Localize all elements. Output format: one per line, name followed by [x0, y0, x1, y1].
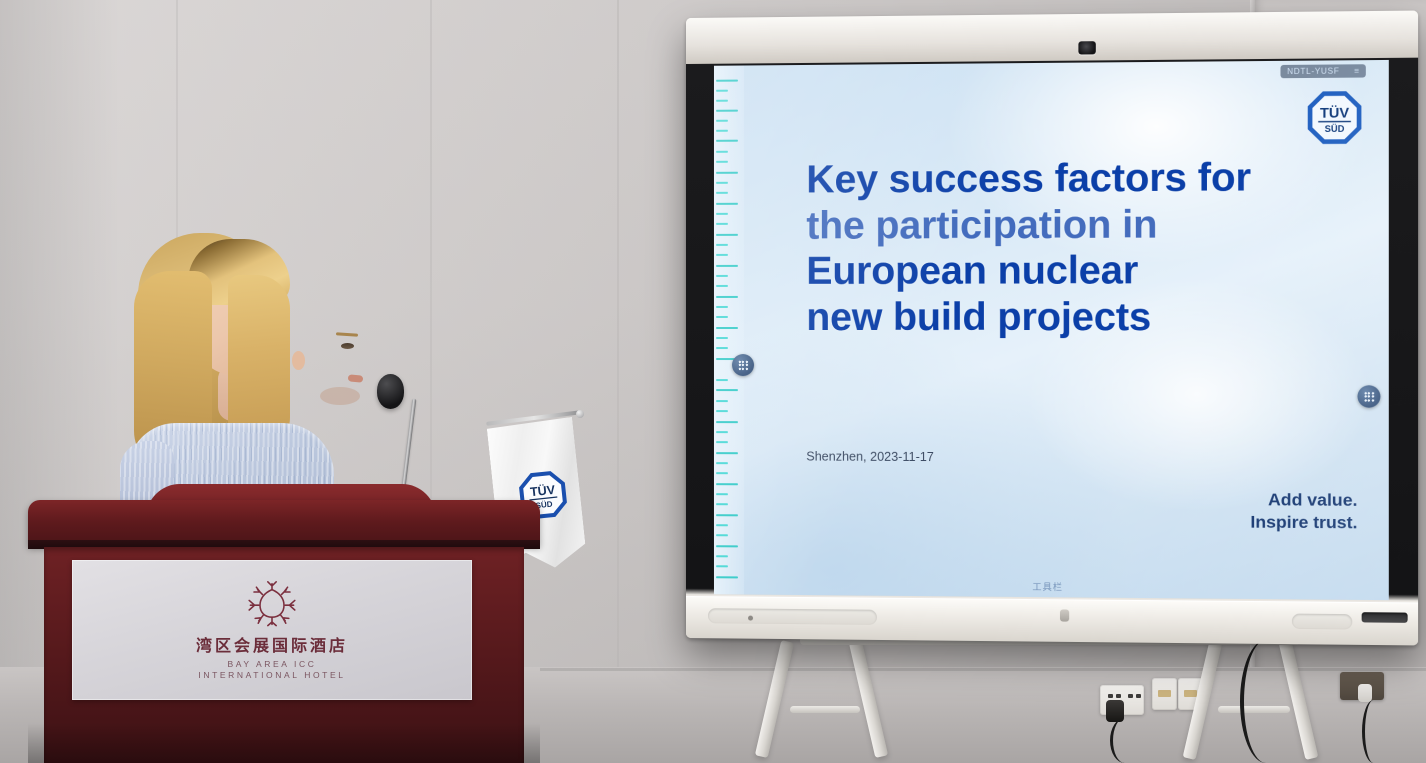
slide-title-line-2: the participation in [806, 201, 1286, 249]
svg-text:SÜD: SÜD [1325, 124, 1345, 134]
screenshot-root: NDTL-YUSF ≡ TÜV SÜD Key success factors … [0, 0, 1426, 763]
slide-title-line-3: European nuclear [806, 248, 1286, 295]
power-cable [1110, 718, 1139, 763]
power-button[interactable] [1060, 609, 1069, 621]
power-plug-white [1358, 684, 1372, 702]
status-badge: NDTL-YUSF ≡ [1281, 64, 1366, 78]
overlay-chip-label: NDTL-YUSF [1287, 66, 1339, 76]
power-cable [1362, 700, 1385, 763]
hotel-name-en-2: INTERNATIONAL HOTEL [198, 670, 345, 680]
interactive-display[interactable]: NDTL-YUSF ≡ TÜV SÜD Key success factors … [686, 11, 1418, 646]
lips [348, 374, 364, 383]
slide-title-line-1: Key success factors for [806, 155, 1286, 203]
slide-claim: Add value. Inspire trust. [1250, 489, 1357, 535]
svg-text:TÜV: TÜV [1320, 104, 1350, 121]
data-socket-panel [1152, 678, 1177, 710]
grid-dots-icon[interactable] [1357, 385, 1380, 408]
display-screen[interactable]: NDTL-YUSF ≡ TÜV SÜD Key success factors … [714, 60, 1389, 600]
speaker-grille [1292, 614, 1352, 630]
hotel-name-en-1: BAY AREA ICC [228, 659, 317, 669]
display-bottom-bezel [686, 596, 1418, 645]
eye [341, 343, 354, 349]
presenter [110, 225, 340, 525]
display-cable [1240, 640, 1292, 763]
flag-finial [576, 410, 584, 418]
hotel-name-cn: 湾区会展国际酒店 [196, 632, 348, 656]
wall-seam [617, 0, 619, 763]
camera-icon [1078, 41, 1095, 54]
grid-dots-icon[interactable] [732, 354, 754, 376]
slide-date: Shenzhen, 2023-11-17 [806, 449, 934, 464]
slide-title-line-4: new build projects [806, 294, 1286, 341]
overlay-chip-glyph: ≡ [1354, 66, 1360, 75]
podium: 湾区会展国际酒店 BAY AREA ICC INTERNATIONAL HOTE… [28, 500, 540, 763]
hotel-sign: 湾区会展国际酒店 BAY AREA ICC INTERNATIONAL HOTE… [72, 560, 472, 700]
claim-line-1: Add value. [1250, 489, 1357, 512]
pen-tray[interactable] [1362, 612, 1408, 623]
ruler-rail[interactable] [714, 66, 744, 595]
ear [292, 351, 305, 370]
display-top-bezel [686, 11, 1418, 64]
coral-emblem-icon [240, 580, 304, 628]
tuv-sud-logo: TÜV SÜD [1305, 89, 1363, 147]
gooseneck-microphone [377, 374, 404, 409]
slide-title: Key success factors for the participatio… [806, 155, 1286, 341]
claim-line-2: Inspire trust. [1250, 512, 1357, 536]
power-indicator [748, 616, 753, 621]
toolbar-hint[interactable]: 工具栏 [1032, 580, 1063, 593]
speaker-grille [708, 608, 877, 625]
stand-crossbar [790, 706, 860, 713]
